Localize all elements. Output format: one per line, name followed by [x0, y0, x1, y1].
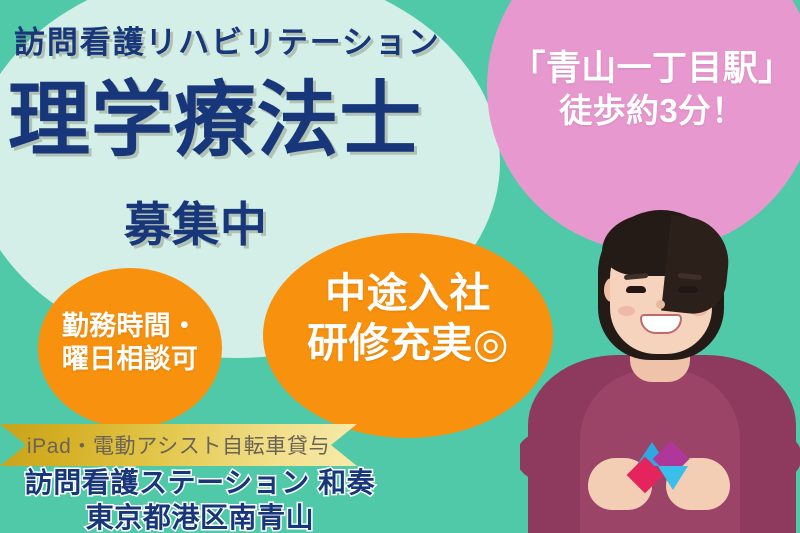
origami-polyhedron-icon — [630, 440, 692, 496]
hours-line-1: 勤務時間・ — [20, 310, 240, 343]
training-badge: 中途入社 研修充実◎ — [263, 268, 553, 368]
organization-name: 訪問看護ステーション 和奏 — [0, 466, 400, 501]
training-line-1: 中途入社 — [263, 268, 553, 318]
working-hours-badge: 勤務時間・ 曜日相談可 — [20, 310, 240, 376]
station-access-badge: 「青山一丁目駅」 徒歩約3分！ — [487, 48, 800, 131]
recruiting-label: 募集中 — [124, 200, 268, 249]
company-footer: 訪問看護ステーション 和奏 東京都港区南青山 — [0, 466, 400, 533]
job-advertisement-poster: 訪問看護リハビリテーション 理学療法士 募集中 「青山一丁目駅」 徒歩約3分！ … — [0, 0, 800, 533]
page-title: 理学療法士 — [8, 78, 422, 164]
lead-subtitle: 訪問看護リハビリテーション — [14, 26, 441, 60]
nurse-eye-left — [626, 286, 646, 293]
perks-ribbon-text: iPad・電動アシスト自転車貸与 — [27, 430, 330, 460]
nurse-photo — [520, 200, 800, 533]
nurse-eye-right — [678, 286, 698, 293]
station-name-line: 「青山一丁目駅」 — [487, 48, 800, 91]
organization-address: 東京都港区南青山 — [0, 501, 400, 533]
nurse-cheek-left — [618, 306, 635, 316]
training-line-2: 研修充実◎ — [263, 318, 553, 368]
station-walk-time-line: 徒歩約3分！ — [487, 91, 800, 131]
hours-line-2: 曜日相談可 — [20, 343, 240, 376]
nurse-nose — [656, 300, 665, 309]
perks-ribbon: iPad・電動アシスト自転車貸与 — [0, 424, 357, 466]
